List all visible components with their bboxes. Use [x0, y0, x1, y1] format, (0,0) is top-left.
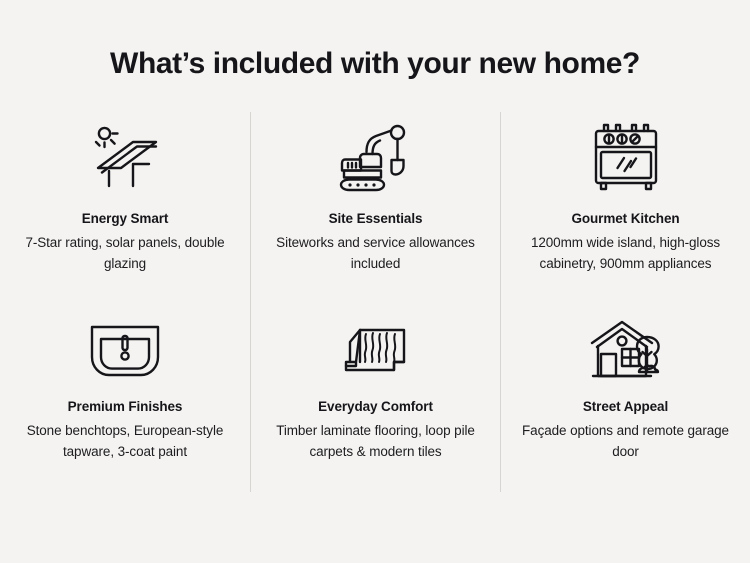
feature-description: 7-Star rating, solar panels, double glaz… [18, 232, 233, 274]
excavator-icon [336, 118, 416, 196]
feature-card-energy-smart: Energy Smart 7-Star rating, solar panels… [0, 112, 250, 302]
page-title: What’s included with your new home? [0, 44, 750, 84]
feature-title: Everyday Comfort [318, 398, 433, 416]
house-tree-icon [587, 318, 665, 386]
oven-range-icon [588, 118, 664, 196]
feature-title: Site Essentials [329, 210, 423, 228]
feature-title: Gourmet Kitchen [571, 210, 679, 228]
slide-root: What’s included with your new home? Ener… [0, 0, 750, 563]
feature-description: 1200mm wide island, high-gloss cabinetry… [518, 232, 733, 274]
feature-card-premium-finishes: Premium Finishes Stone benchtops, Europe… [0, 302, 250, 492]
feature-description: Stone benchtops, European-style tapware,… [18, 420, 233, 462]
solar-panel-icon [85, 118, 165, 196]
feature-card-everyday-comfort: Everyday Comfort Timber laminate floorin… [250, 302, 500, 492]
feature-card-gourmet-kitchen: Gourmet Kitchen 1200mm wide island, high… [500, 112, 750, 302]
features-grid: Energy Smart 7-Star rating, solar panels… [0, 112, 750, 492]
feature-card-street-appeal: Street Appeal Façade options and remote … [500, 302, 750, 492]
feature-title: Street Appeal [583, 398, 668, 416]
sink-basin-icon [88, 318, 162, 386]
feature-card-site-essentials: Site Essentials Siteworks and service al… [250, 112, 500, 302]
feature-title: Energy Smart [82, 210, 169, 228]
feature-description: Timber laminate flooring, loop pile carp… [268, 420, 483, 462]
timber-flooring-icon [338, 318, 414, 386]
feature-title: Premium Finishes [68, 398, 183, 416]
feature-description: Siteworks and service allowances include… [268, 232, 483, 274]
feature-description: Façade options and remote garage door [518, 420, 733, 462]
